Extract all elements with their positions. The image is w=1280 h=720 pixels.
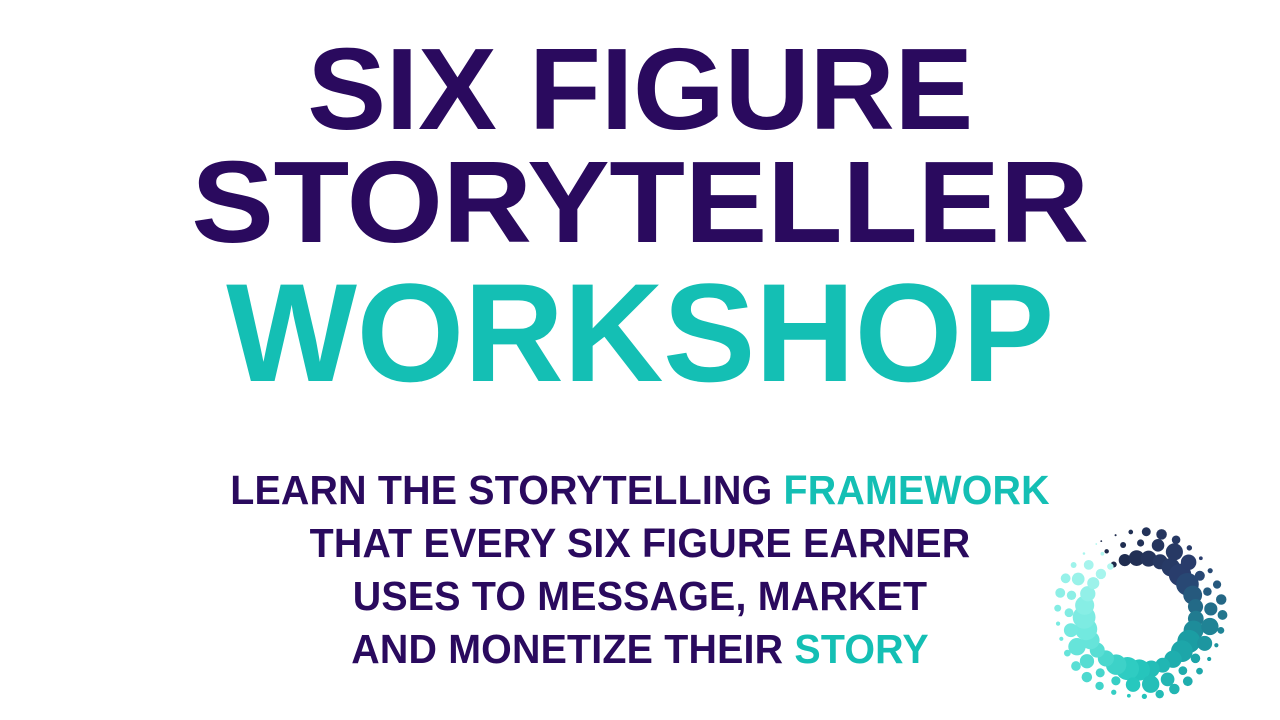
- headline-line-1: SIX FIGURE: [0, 34, 1280, 145]
- brand-logo-icon: [1048, 522, 1232, 706]
- subheadline-line-4-text: AND MONETIZE THEIR: [351, 626, 794, 672]
- headline-block: SIX FIGURE STORYTELLER WORKSHOP: [0, 34, 1280, 403]
- subheadline-line-4-accent: STORY: [794, 626, 928, 672]
- subheadline-line-1-text: LEARN THE STORYTELLING: [230, 467, 783, 513]
- subheadline-line-1-accent: FRAMEWORK: [784, 467, 1050, 513]
- headline-line-2: STORYTELLER: [0, 147, 1280, 258]
- poster-canvas: SIX FIGURE STORYTELLER WORKSHOP LEARN TH…: [0, 0, 1280, 720]
- subheadline-line-1: LEARN THE STORYTELLING FRAMEWORK: [26, 464, 1255, 517]
- headline-line-3: WORKSHOP: [6, 263, 1273, 403]
